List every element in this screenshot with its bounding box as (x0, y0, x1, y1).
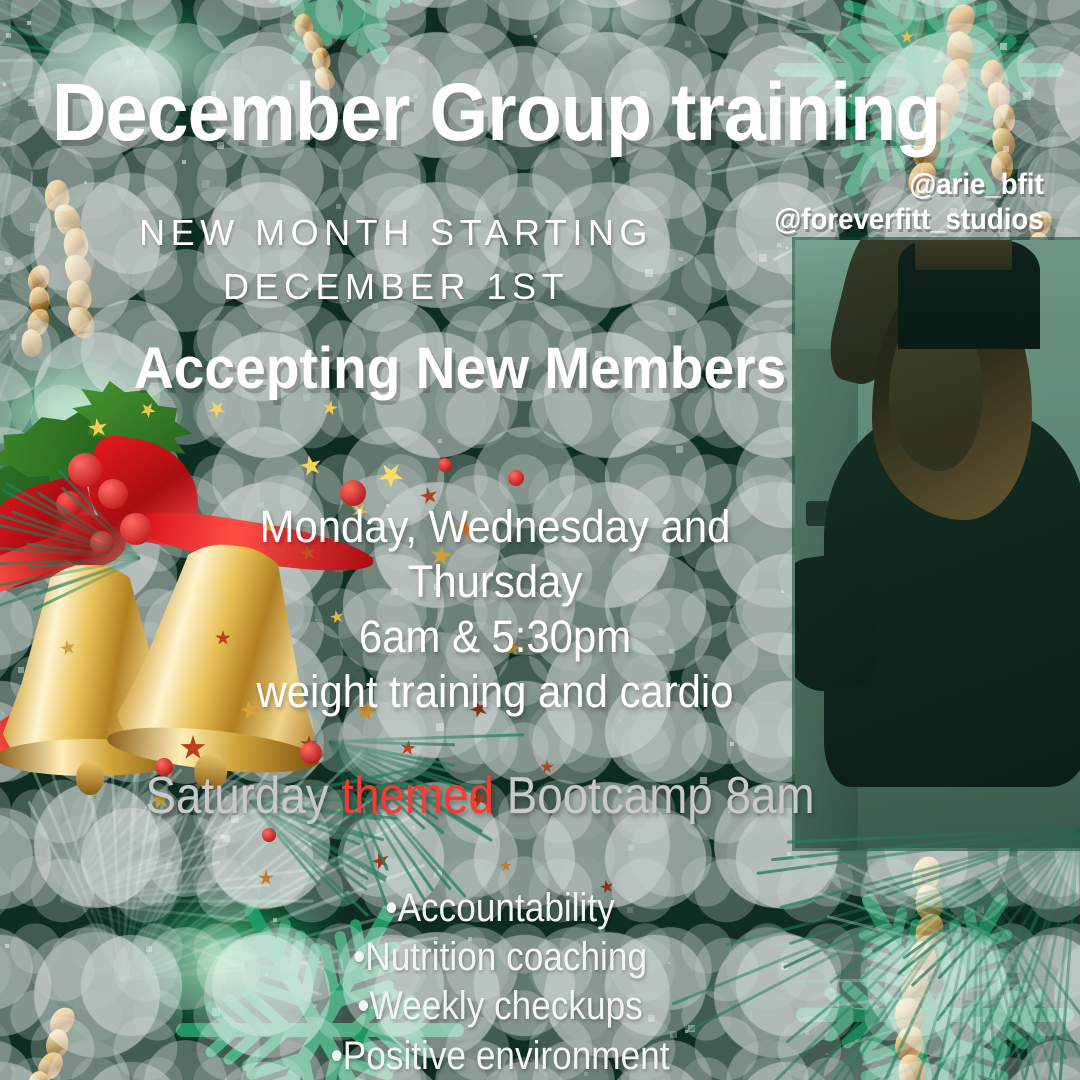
saturday-bootcamp-line: Saturday themed Bootcamp 8am (58, 770, 903, 822)
snow-fleck-icon (223, 835, 230, 842)
schedule-days: Monday, Wednesday and (230, 500, 760, 555)
snow-fleck-icon (38, 91, 44, 97)
snow-fleck-icon (721, 158, 723, 160)
snow-fleck-icon (220, 835, 224, 839)
red-berry-icon (68, 453, 102, 487)
light-flare-icon (520, 0, 680, 60)
snow-fleck-icon (360, 867, 367, 874)
schedule-days-continued: Thursday (230, 555, 760, 610)
list-item: •Positive environment (60, 1032, 940, 1080)
snow-fleck-icon (434, 870, 442, 878)
bootcamp-prefix: Saturday (146, 767, 342, 825)
snow-fleck-icon (419, 57, 425, 63)
snow-fleck-icon (0, 106, 2, 108)
schedule-activities: weight training and cardio (230, 665, 760, 720)
schedule-block: Monday, Wednesday and Thursday 6am & 5:3… (230, 500, 760, 720)
snow-fleck-icon (11, 1066, 15, 1070)
snow-fleck-icon (671, 3, 673, 5)
snow-fleck-icon (619, 719, 621, 721)
flyer-canvas: December Group training @arie_bfit @fore… (0, 0, 1080, 1080)
snow-fleck-icon (10, 334, 16, 340)
snow-fleck-icon (84, 181, 87, 184)
snow-fleck-icon (1003, 146, 1009, 152)
subheading-line-2: DECEMBER 1ST (0, 260, 792, 314)
snow-fleck-icon (676, 446, 683, 453)
red-berry-icon (98, 479, 128, 509)
social-handles: @arie_bfit @foreverfitt_studios (775, 168, 1044, 238)
star-confetti-icon (368, 848, 393, 873)
snow-fleck-icon (1055, 1063, 1058, 1066)
snow-fleck-icon (5, 944, 9, 948)
star-confetti-icon (498, 858, 513, 873)
red-berry-icon (56, 491, 82, 517)
red-berry-icon (508, 470, 524, 486)
snow-fleck-icon (628, 845, 634, 851)
red-berry-icon (262, 828, 276, 842)
snow-fleck-icon (1023, 92, 1031, 100)
snow-fleck-icon (166, 863, 172, 869)
snow-fleck-icon (730, 742, 734, 746)
snow-fleck-icon (946, 25, 952, 31)
subheading-line-1: NEW MONTH STARTING (0, 206, 792, 260)
snow-fleck-icon (1036, 951, 1039, 954)
snow-fleck-icon (27, 21, 31, 25)
list-item: •Weekly checkups (60, 982, 940, 1031)
snow-fleck-icon (126, 58, 134, 66)
snow-fleck-icon (3, 83, 6, 86)
handle-arie-bfit[interactable]: @arie_bfit (775, 168, 1044, 203)
list-item: •Accountability (60, 884, 940, 933)
star-confetti-icon (399, 739, 418, 758)
star-confetti-icon (900, 30, 914, 44)
subheading: NEW MONTH STARTING DECEMBER 1ST (0, 206, 792, 314)
snow-fleck-icon (6, 33, 11, 38)
snow-fleck-icon (781, 590, 784, 593)
snow-fleck-icon (412, 826, 415, 829)
snow-fleck-icon (977, 906, 984, 913)
member-photo (795, 240, 1080, 848)
snow-fleck-icon (139, 864, 141, 866)
red-berry-icon (90, 531, 114, 555)
schedule-times: 6am & 5:30pm (230, 610, 760, 665)
gold-ribbon-streamer-icon (980, 64, 1024, 182)
snow-fleck-icon (438, 439, 442, 443)
snow-fleck-icon (534, 35, 537, 38)
bootcamp-suffix: Bootcamp 8am (494, 767, 814, 825)
benefits-list: •Accountability •Nutrition coaching •Wee… (60, 884, 940, 1080)
snow-fleck-icon (685, 41, 691, 47)
bootcamp-highlight: themed (341, 767, 494, 825)
snow-fleck-icon (1000, 43, 1007, 50)
snow-fleck-icon (436, 723, 444, 731)
list-item: •Nutrition coaching (60, 933, 940, 982)
accepting-new-members-headline: Accepting New Members (134, 340, 786, 398)
snow-fleck-icon (787, 852, 791, 856)
handle-foreverfitt-studios[interactable]: @foreverfitt_studios (775, 203, 1044, 238)
snow-fleck-icon (202, 180, 210, 188)
page-title: December Group training (52, 74, 843, 152)
snow-fleck-icon (28, 99, 35, 106)
red-berry-icon (438, 458, 452, 472)
snow-fleck-icon (182, 160, 186, 164)
